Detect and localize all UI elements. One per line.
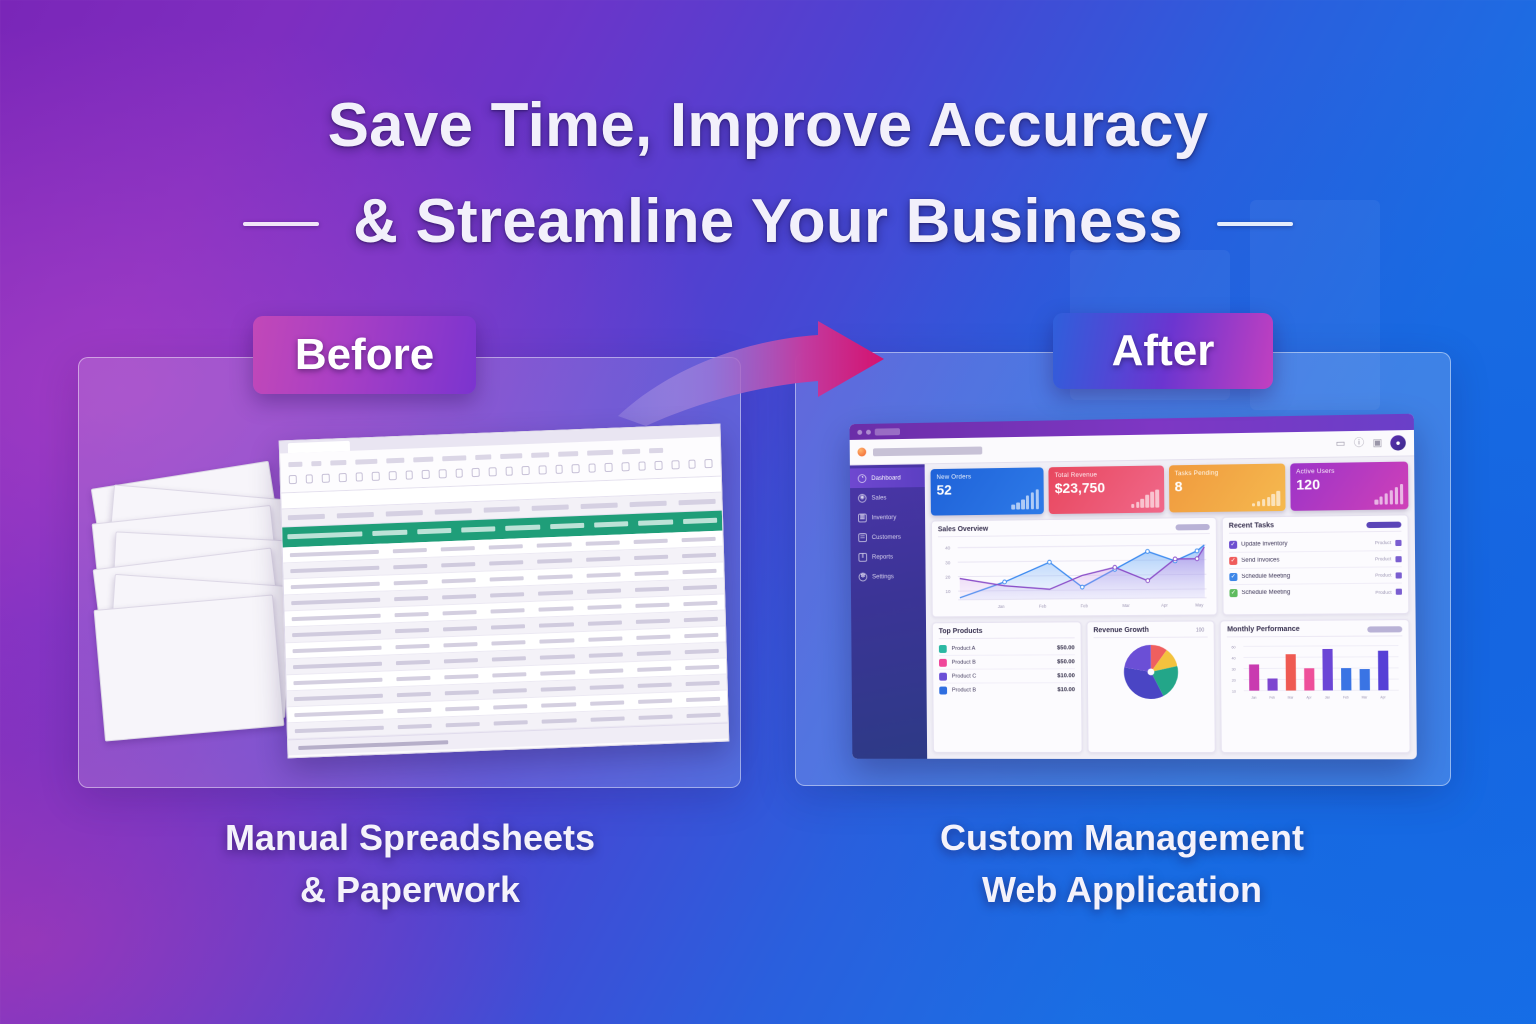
caption-after: Custom Management Web Application xyxy=(822,812,1422,916)
sidebar-item-dashboard[interactable]: ◔ Dashboard xyxy=(850,467,925,488)
kpi-card-active-users[interactable]: Active Users 120 xyxy=(1290,462,1408,511)
product-name: Product A xyxy=(952,645,1053,651)
caption-before-line-2: & Paperwork xyxy=(110,864,710,916)
chart-icon: ‖ xyxy=(858,552,867,561)
checkbox-icon[interactable]: ✓ xyxy=(1229,556,1237,564)
svg-text:Mar: Mar xyxy=(1288,695,1295,699)
card-title: Top Products xyxy=(939,628,983,635)
kpi-label: Tasks Pending xyxy=(1175,469,1279,478)
headline-rule-left xyxy=(243,222,319,226)
divider xyxy=(1093,637,1208,639)
color-swatch-icon xyxy=(939,687,947,695)
avatar[interactable]: ● xyxy=(1390,435,1406,450)
kpi-label: Active Users xyxy=(1296,467,1402,476)
svg-text:40: 40 xyxy=(945,546,950,551)
users-icon: ☰ xyxy=(858,533,867,542)
task-meta: Product xyxy=(1375,556,1391,561)
sidebar-item-label: Customers xyxy=(872,533,901,540)
product-name: Product B xyxy=(952,687,1053,693)
color-swatch-icon xyxy=(939,658,947,666)
sidebar-item-label: Dashboard xyxy=(871,474,900,481)
card-title: Recent Tasks xyxy=(1229,522,1274,530)
headline-line-2-wrap: & Streamline Your Business xyxy=(289,174,1247,270)
svg-text:10: 10 xyxy=(946,589,951,594)
kpi-card-new-orders[interactable]: New Orders 52 xyxy=(931,467,1045,515)
svg-text:30: 30 xyxy=(1232,667,1236,671)
list-item[interactable]: ✓ Send Invoices Product xyxy=(1229,551,1402,569)
product-price: $50.00 xyxy=(1057,645,1075,651)
task-name: Update Inventory xyxy=(1241,540,1371,548)
list-item[interactable]: ✓ Schedule Meeting Product xyxy=(1229,567,1402,585)
dashboard-main: New Orders 52 Total Revenue $23,750 Task… xyxy=(925,456,1417,759)
revenue-growth-pie-chart xyxy=(1093,641,1208,704)
svg-text:Jan: Jan xyxy=(998,604,1005,609)
task-meta: Product xyxy=(1375,572,1391,577)
caption-before: Manual Spreadsheets & Paperwork xyxy=(110,812,710,916)
window-dot[interactable] xyxy=(857,429,862,434)
svg-text:Mar: Mar xyxy=(1122,603,1130,608)
monthly-performance-card: Monthly Performance 6040 xyxy=(1220,619,1411,753)
recent-tasks-card: Recent Tasks ✓ Update Inventory Product … xyxy=(1222,514,1410,615)
sales-overview-card: Sales Overview xyxy=(931,517,1218,618)
kpi-row: New Orders 52 Total Revenue $23,750 Task… xyxy=(931,462,1409,516)
list-item[interactable]: ✓ Update Inventory Product xyxy=(1229,535,1402,553)
kpi-card-total-revenue[interactable]: Total Revenue $23,750 xyxy=(1049,465,1164,514)
svg-text:60: 60 xyxy=(1232,645,1236,649)
svg-text:40: 40 xyxy=(1232,656,1236,660)
list-item[interactable]: Product B $50.00 xyxy=(939,655,1075,670)
task-status-icon[interactable] xyxy=(1395,556,1401,562)
badge-after: After xyxy=(1053,313,1273,389)
sidebar-item-label: Inventory xyxy=(872,514,897,521)
headline-line-2: & Streamline Your Business xyxy=(353,187,1183,256)
window-dot[interactable] xyxy=(866,429,871,434)
svg-text:Jan: Jan xyxy=(1252,696,1257,700)
card-title: Monthly Performance xyxy=(1227,626,1300,634)
card-title: Sales Overview xyxy=(938,526,988,534)
product-price: $10.00 xyxy=(1057,687,1075,693)
product-price: $10.00 xyxy=(1057,673,1075,679)
card-header: Monthly Performance xyxy=(1227,625,1402,633)
sparkline-icon xyxy=(1374,484,1403,505)
sidebar-item-customers[interactable]: ☰ Customers xyxy=(850,527,925,548)
legend-pill xyxy=(1367,626,1402,632)
list-item[interactable]: Product B $10.00 xyxy=(939,683,1075,697)
gauge-icon: ◔ xyxy=(858,474,867,483)
mid-row: Sales Overview xyxy=(931,514,1409,617)
sidebar-item-reports[interactable]: ‖ Reports xyxy=(851,546,926,567)
page-title: Save Time, Improve Accuracy & Streamline… xyxy=(0,78,1536,270)
task-meta: Product xyxy=(1375,589,1391,594)
list-item[interactable]: Product C $10.00 xyxy=(939,669,1075,683)
card-header: Sales Overview xyxy=(938,523,1210,533)
card-badge: 100 xyxy=(1196,627,1208,632)
brand-logo-icon[interactable] xyxy=(857,448,866,457)
sidebar-item-label: Sales xyxy=(871,494,886,501)
card-title: Revenue Growth xyxy=(1093,627,1149,634)
card-header: Recent Tasks xyxy=(1229,521,1402,530)
dashboard-body: ◔ Dashboard ◉ Sales ▦ Inventory ☰ Custom… xyxy=(850,456,1417,759)
bottom-row: Top Products Product A $50.00 Product B … xyxy=(932,619,1411,753)
task-name: Schedule Meeting xyxy=(1242,589,1372,596)
sidebar-item-label: Reports xyxy=(872,553,893,560)
caption-after-line-1: Custom Management xyxy=(822,812,1422,864)
transition-arrow xyxy=(612,318,892,430)
task-meta: Product xyxy=(1375,540,1391,545)
svg-text:20: 20 xyxy=(1232,678,1236,682)
spreadsheet-window[interactable] xyxy=(279,424,730,759)
svg-text:Feb: Feb xyxy=(1081,603,1089,608)
svg-text:10: 10 xyxy=(1232,690,1236,694)
sparkline-icon xyxy=(1131,488,1159,508)
image-icon[interactable]: ▣ xyxy=(1372,438,1383,449)
sidebar-item-label: Settings xyxy=(872,573,894,580)
caption-after-line-2: Web Application xyxy=(822,864,1422,916)
product-name: Product C xyxy=(952,673,1053,679)
task-status-icon[interactable] xyxy=(1395,539,1401,545)
checkbox-icon[interactable]: ✓ xyxy=(1229,589,1237,597)
svg-text:Feb: Feb xyxy=(1343,695,1349,699)
dashboard-window[interactable]: ▭ ⓘ ▣ ● ◔ Dashboard ◉ Sales ▦ Inventory … xyxy=(850,414,1417,760)
box-icon: ▦ xyxy=(858,513,867,522)
color-swatch-icon xyxy=(939,645,947,653)
headline-rule-right xyxy=(1217,222,1293,226)
sidebar-item-settings[interactable]: ✽ Settings xyxy=(851,566,926,586)
task-name: Schedule Meeting xyxy=(1241,572,1371,579)
kpi-card-tasks-pending[interactable]: Tasks Pending 8 xyxy=(1168,464,1285,513)
svg-text:20: 20 xyxy=(945,574,950,579)
card-header: Revenue Growth 100 xyxy=(1093,626,1208,634)
svg-text:Jan: Jan xyxy=(1325,695,1330,699)
kpi-label: Total Revenue xyxy=(1055,471,1158,480)
list-item[interactable]: Product A $50.00 xyxy=(939,641,1075,656)
chat-icon[interactable]: ▭ xyxy=(1335,438,1346,449)
task-name: Send Invoices xyxy=(1241,556,1371,563)
svg-text:May: May xyxy=(1195,602,1204,607)
sidebar: ◔ Dashboard ◉ Sales ▦ Inventory ☰ Custom… xyxy=(850,464,927,758)
headline-line-1: Save Time, Improve Accuracy xyxy=(0,78,1536,174)
badge-before: Before xyxy=(253,316,476,394)
divider xyxy=(939,637,1075,639)
list-item[interactable]: ✓ Schedule Meeting Product xyxy=(1229,584,1402,602)
caption-before-line-1: Manual Spreadsheets xyxy=(110,812,710,864)
app-title-placeholder xyxy=(873,446,982,456)
sidebar-item-sales[interactable]: ◉ Sales xyxy=(850,487,925,508)
svg-text:Feb: Feb xyxy=(1039,604,1047,609)
svg-text:30: 30 xyxy=(945,560,950,565)
svg-text:Feb: Feb xyxy=(1270,695,1276,699)
svg-text:Apr: Apr xyxy=(1381,695,1387,699)
tag-icon: ◉ xyxy=(858,493,867,502)
legend-pill xyxy=(1175,523,1209,529)
sales-overview-chart: 4030 2010 xyxy=(938,537,1210,611)
checkbox-icon[interactable]: ✓ xyxy=(1229,540,1237,548)
sparkline-icon xyxy=(1011,489,1039,509)
checkbox-icon[interactable]: ✓ xyxy=(1229,572,1237,580)
svg-text:Mar: Mar xyxy=(1362,695,1369,699)
top-products-card: Top Products Product A $50.00 Product B … xyxy=(932,621,1083,753)
color-swatch-icon xyxy=(939,672,947,680)
sidebar-item-inventory[interactable]: ▦ Inventory xyxy=(850,507,925,528)
kpi-label: New Orders xyxy=(936,472,1037,481)
divider xyxy=(1227,635,1402,637)
product-price: $50.00 xyxy=(1057,659,1075,665)
info-icon[interactable]: ⓘ xyxy=(1353,438,1364,449)
divider xyxy=(1229,531,1402,534)
product-name: Product B xyxy=(952,659,1053,665)
topbar-spacer xyxy=(989,444,1328,450)
legend-pill xyxy=(1366,521,1401,528)
task-status-icon[interactable] xyxy=(1396,572,1402,578)
sparkline-icon xyxy=(1252,486,1280,507)
browser-tab[interactable] xyxy=(875,428,900,435)
card-header: Top Products xyxy=(939,627,1075,635)
svg-text:Apr: Apr xyxy=(1161,603,1168,608)
svg-text:Apr: Apr xyxy=(1307,695,1313,699)
spreadsheet-body[interactable] xyxy=(283,531,728,740)
gear-icon: ✽ xyxy=(859,572,868,581)
task-status-icon[interactable] xyxy=(1396,589,1402,595)
monthly-performance-bar-chart: 6040 302010 xyxy=(1227,639,1403,702)
revenue-growth-card: Revenue Growth 100 xyxy=(1086,620,1216,753)
